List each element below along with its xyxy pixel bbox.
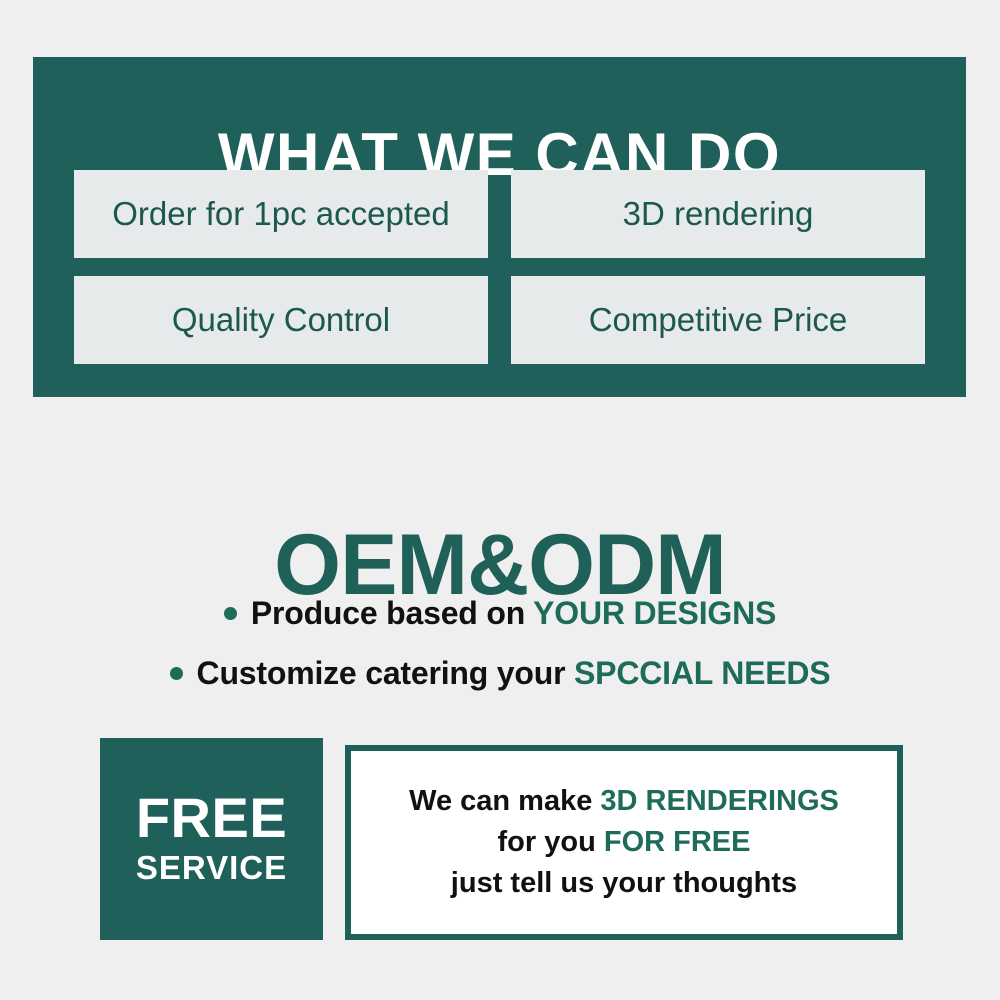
- promo-line-1-accent: 3D RENDERINGS: [600, 785, 839, 817]
- list-item: Produce based on YOUR DESIGNS: [0, 583, 1000, 643]
- bullet-text: Customize catering your SPCCIAL NEEDS: [197, 655, 831, 692]
- bullet-dot-icon: [170, 667, 183, 680]
- bullet-text: Produce based on YOUR DESIGNS: [251, 595, 776, 632]
- promo-line-2-accent: FOR FREE: [604, 826, 751, 858]
- promo-line-1-plain: We can make: [409, 785, 600, 817]
- feature-box-competitive-price: Competitive Price: [511, 276, 925, 364]
- bullet-plain-text: Customize catering your: [197, 655, 575, 691]
- promo-line-2-plain: for you: [498, 826, 604, 858]
- bullet-dot-icon: [224, 607, 237, 620]
- promo-line-3-plain: just tell us your thoughts: [451, 867, 797, 899]
- feature-label: 3D rendering: [623, 195, 814, 233]
- list-item: Customize catering your SPCCIAL NEEDS: [0, 643, 1000, 703]
- feature-label: Competitive Price: [589, 301, 848, 339]
- bullet-accent-text: SPCCIAL NEEDS: [574, 655, 830, 691]
- promo-message-box: We can make 3D RENDERINGS for you FOR FR…: [345, 745, 903, 940]
- promo-line-3: just tell us your thoughts: [451, 863, 797, 904]
- free-service-badge: FREE SERVICE: [100, 738, 323, 940]
- feature-grid: Order for 1pc accepted 3D rendering Qual…: [74, 170, 925, 364]
- free-label: FREE: [136, 789, 287, 847]
- feature-box-quality-control: Quality Control: [74, 276, 488, 364]
- promo-line-1: We can make 3D RENDERINGS: [409, 781, 839, 822]
- bullet-plain-text: Produce based on: [251, 595, 533, 631]
- bullet-accent-text: YOUR DESIGNS: [533, 595, 776, 631]
- capability-panel: WHAT WE CAN DO Order for 1pc accepted 3D…: [33, 57, 966, 397]
- feature-label: Order for 1pc accepted: [112, 195, 450, 233]
- service-label: SERVICE: [136, 847, 287, 889]
- feature-box-order-1pc: Order for 1pc accepted: [74, 170, 488, 258]
- feature-label: Quality Control: [172, 301, 390, 339]
- feature-box-3d-rendering: 3D rendering: [511, 170, 925, 258]
- capability-bullet-list: Produce based on YOUR DESIGNS Customize …: [0, 583, 1000, 703]
- promo-line-2: for you FOR FREE: [498, 822, 751, 863]
